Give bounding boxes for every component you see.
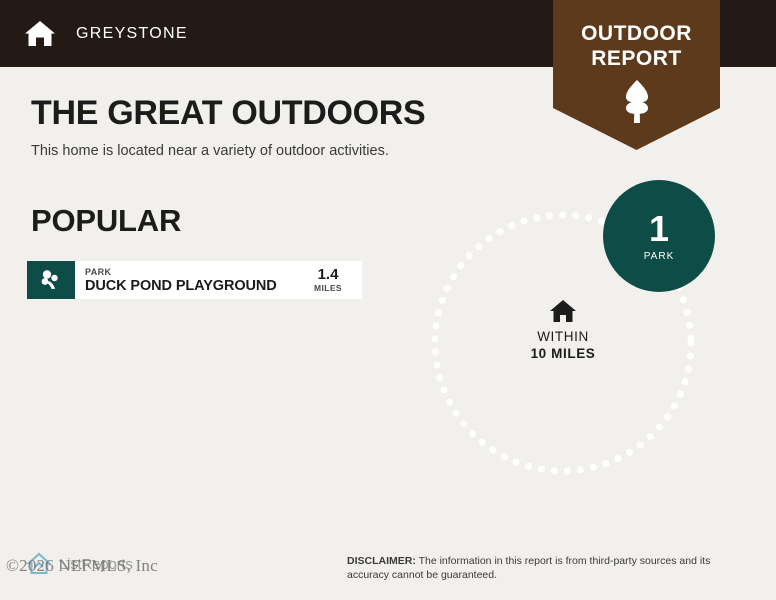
badge-line-1: OUTDOOR xyxy=(553,22,720,46)
park-count-value: 1 xyxy=(649,211,669,247)
list-item-distance-unit: MILES xyxy=(314,283,342,293)
outdoor-report-badge: OUTDOOR REPORT xyxy=(553,0,720,150)
diagram-within-label: WITHIN xyxy=(418,328,708,345)
list-item-distance: 1.4 MILES xyxy=(300,261,362,299)
disclaimer-label: DISCLAIMER: xyxy=(347,555,416,567)
copyright-watermark: ©2026 NEFMLS, Inc xyxy=(6,556,158,576)
tree-icon xyxy=(617,78,657,124)
section-title-popular: POPULAR xyxy=(31,203,181,239)
outdoor-report-page: GREYSTONE OUTDOOR REPORT THE GREAT OUTDO… xyxy=(0,0,776,600)
proximity-diagram: 1 PARK WITHIN 10 MILES xyxy=(418,198,708,488)
diagram-radius-label: 10 MILES xyxy=(418,345,708,362)
brand-name: GREYSTONE xyxy=(76,25,188,43)
list-item-category: PARK xyxy=(85,267,300,278)
list-item-text: PARK DUCK POND PLAYGROUND xyxy=(75,261,300,299)
status-badge: 1 PARK xyxy=(603,180,715,292)
diagram-center: WITHIN 10 MILES xyxy=(418,298,708,362)
page-title: THE GREAT OUTDOORS xyxy=(31,94,425,133)
list-item[interactable]: PARK DUCK POND PLAYGROUND 1.4 MILES xyxy=(27,261,362,299)
list-item-distance-value: 1.4 xyxy=(318,267,339,283)
home-icon xyxy=(22,16,58,52)
page-subtitle: This home is located near a variety of o… xyxy=(31,143,389,159)
home-icon xyxy=(549,298,577,324)
badge-line-2: REPORT xyxy=(553,47,720,71)
list-item-name: DUCK POND PLAYGROUND xyxy=(85,278,300,294)
park-count-label: PARK xyxy=(644,251,675,262)
park-icon xyxy=(27,261,75,299)
disclaimer: DISCLAIMER: The information in this repo… xyxy=(347,554,755,582)
